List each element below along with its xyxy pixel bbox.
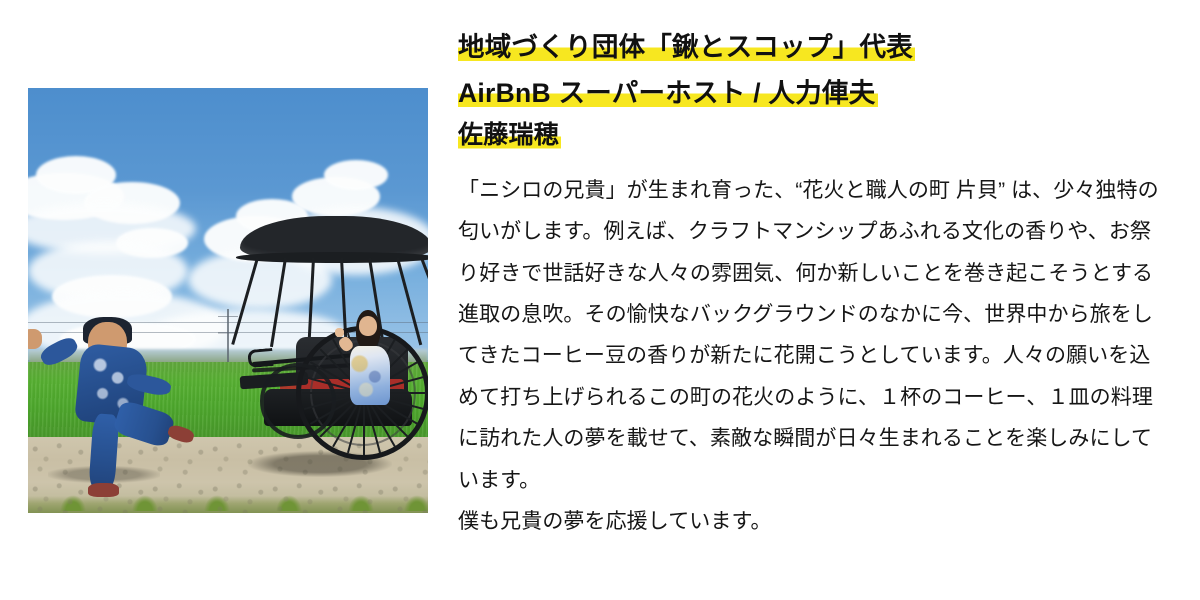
description-paragraph: 「ニシロの兄貴」が生まれ育った、“花火と職人の町 片貝” は、少々独特の匂いがし… <box>458 170 1170 501</box>
passenger-yukata <box>350 346 390 405</box>
rickshaw-far-wheel <box>260 363 336 439</box>
puller-leg-forward <box>112 399 176 449</box>
person-name-text: 佐藤瑞穂 <box>458 121 561 149</box>
heading-organization-role: 地域づくり団体「鍬とスコップ」代表 <box>458 34 1170 61</box>
rickshaw <box>236 216 428 480</box>
profile-text-column: 地域づくり団体「鍬とスコップ」代表 AirBnB スーパーホスト / 人力俥夫 … <box>458 34 1170 542</box>
puller-shoe-left <box>88 483 119 497</box>
rickshaw-puller <box>60 322 188 492</box>
profile-page: 地域づくり団体「鍬とスコップ」代表 AirBnB スーパーホスト / 人力俥夫 … <box>0 0 1200 600</box>
profile-photo <box>28 88 428 513</box>
person-name: 佐藤瑞穂 <box>458 123 1170 148</box>
heading-host-title-text: AirBnB スーパーホスト / 人力俥夫 <box>458 78 878 108</box>
puller-waving-hand <box>28 329 42 349</box>
passenger-head <box>359 316 377 337</box>
heading-organization-role-text: 地域づくり団体「鍬とスコップ」代表 <box>458 32 915 62</box>
heading-host-title: AirBnB スーパーホスト / 人力俥夫 <box>458 80 1170 107</box>
profile-description: 「ニシロの兄貴」が生まれ育った、“花火と職人の町 片貝” は、少々独特の匂いがし… <box>458 170 1170 542</box>
description-closing: 僕も兄貴の夢を応援しています。 <box>458 501 1170 542</box>
passenger-waving-hand <box>335 328 344 337</box>
rickshaw-passenger <box>350 316 390 406</box>
photo-canvas <box>28 88 428 513</box>
